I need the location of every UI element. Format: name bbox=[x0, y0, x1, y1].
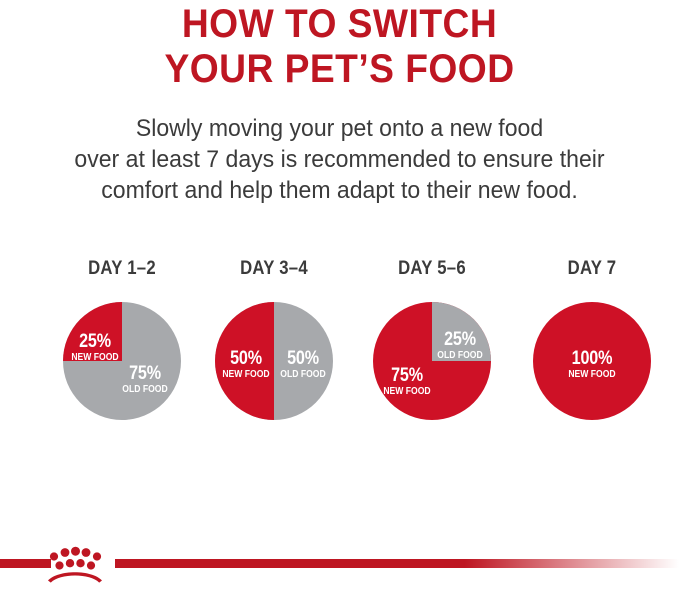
pie-graphic-day-3-4: 50% NEW FOOD 50% OLD FOOD bbox=[215, 302, 333, 420]
pie-chart-day-7: DAY 7 100% NEW FOOD bbox=[512, 258, 672, 420]
page-title: HOW TO SWITCH YOUR PET’S FOOD bbox=[0, 2, 679, 92]
slice-new-food bbox=[63, 302, 122, 361]
slice-old-food bbox=[432, 302, 491, 361]
pie-chart-day-5-6: DAY 5–6 75% NEW FOOD 25% OLD FOOD bbox=[352, 258, 512, 420]
title-line-1: HOW TO SWITCH bbox=[24, 2, 655, 47]
intro-line-3: comfort and help them adapt to their new… bbox=[14, 175, 666, 206]
intro-line-1: Slowly moving your pet onto a new food bbox=[14, 113, 666, 144]
slice-new-food bbox=[215, 302, 274, 420]
intro-paragraph: Slowly moving your pet onto a new food o… bbox=[0, 113, 679, 206]
title-line-2: YOUR PET’S FOOD bbox=[24, 47, 655, 92]
pie-svg-day-3-4 bbox=[215, 302, 333, 420]
pie-label-day-1-2: DAY 1–2 bbox=[52, 258, 193, 280]
intro-line-2: over at least 7 days is recommended to e… bbox=[14, 144, 666, 175]
pie-graphic-day-1-2: 25% NEW FOOD 75% OLD FOOD bbox=[63, 302, 181, 420]
pie-svg-day-1-2 bbox=[63, 302, 181, 420]
pie-svg-day-5-6 bbox=[373, 302, 491, 420]
pie-svg-day-7 bbox=[533, 302, 651, 420]
slice-new-food bbox=[533, 302, 651, 420]
crown-logo-icon bbox=[44, 542, 106, 584]
pie-chart-row: DAY 1–2 25% NEW FOOD 75% OLD FOOD DAY 3–… bbox=[0, 258, 679, 438]
pie-graphic-day-7: 100% NEW FOOD bbox=[533, 302, 651, 420]
pie-label-day-3-4: DAY 3–4 bbox=[204, 258, 345, 280]
footer-bar-right bbox=[115, 559, 679, 568]
pie-label-day-5-6: DAY 5–6 bbox=[362, 258, 503, 280]
pie-chart-day-1-2: DAY 1–2 25% NEW FOOD 75% OLD FOOD bbox=[42, 258, 202, 420]
pie-graphic-day-5-6: 75% NEW FOOD 25% OLD FOOD bbox=[373, 302, 491, 420]
pie-label-day-7: DAY 7 bbox=[522, 258, 663, 280]
pie-chart-day-3-4: DAY 3–4 50% NEW FOOD 50% OLD FOOD bbox=[194, 258, 354, 420]
footer-brand-bar bbox=[0, 532, 679, 594]
